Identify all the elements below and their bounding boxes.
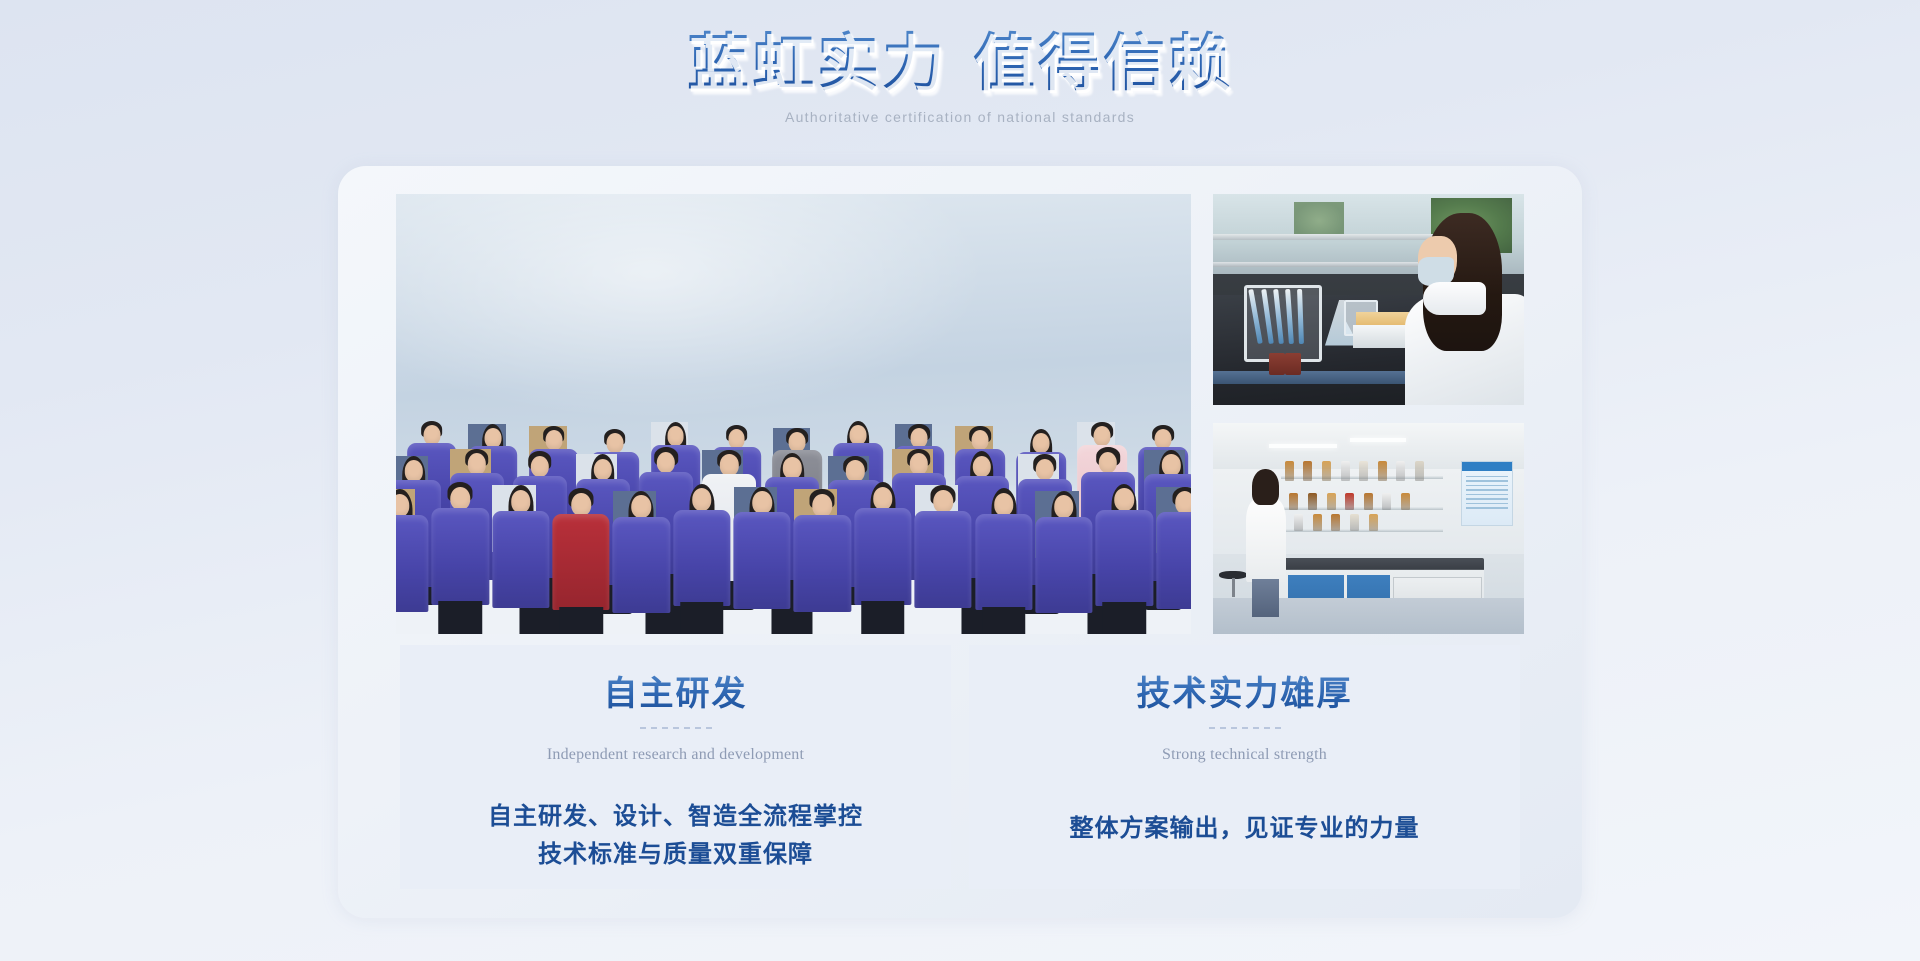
reagent-bottle-icon: [1327, 493, 1336, 510]
team-member-uniform: [552, 514, 609, 610]
feature-card-title: 自主研发: [604, 673, 748, 717]
divider-dash: [1253, 727, 1259, 729]
reagent-bottle-icon: [1313, 514, 1322, 531]
team-member-face: [404, 460, 422, 482]
team-member: [432, 482, 489, 634]
team-member-uniform: [492, 511, 549, 607]
team-member-face: [789, 432, 806, 452]
feature-card-description: 整体方案输出，见证专业的力量: [1070, 810, 1420, 848]
reagent-bottle-icon: [1289, 493, 1298, 510]
team-member-uniform: [432, 508, 489, 604]
team-member-face: [1094, 426, 1111, 446]
feature-card-english-subtitle: Strong technical strength: [1162, 744, 1327, 766]
pipette-icon: [1261, 289, 1274, 344]
feature-card-independent-rd[interactable]: 自主研发 Independent research and developmen…: [400, 645, 951, 889]
team-member-face: [873, 487, 893, 510]
team-member-face: [545, 430, 562, 450]
team-member-face: [972, 430, 989, 450]
team-member: [854, 482, 911, 634]
team-member-face: [994, 493, 1014, 516]
team-member: [734, 487, 791, 634]
reagent-bottle-icon: [1359, 461, 1368, 481]
team-member-uniform: [1035, 517, 1092, 613]
reagent-bottle-icon: [1401, 493, 1410, 510]
feature-card-technical-strength[interactable]: 技术实力雄厚 Strong technical strength 整体方案输出，…: [969, 645, 1520, 889]
feature-card-description-line: 整体方案输出，见证专业的力量: [1070, 810, 1420, 848]
team-member-uniform: [975, 514, 1032, 610]
reagent-bottle-icon: [1341, 461, 1350, 481]
team-member-face: [606, 433, 623, 453]
team-member-face: [1036, 459, 1054, 481]
page-header: 蓝虹实力值得信赖 Authoritative certification of …: [0, 28, 1920, 125]
lab-room-scene: [1213, 423, 1524, 634]
team-member-face: [1175, 491, 1191, 514]
team-member-face: [692, 488, 712, 511]
team-member-face: [657, 452, 675, 474]
stool-post: [1232, 578, 1235, 597]
team-member-uniform: [396, 515, 429, 611]
reagent-bottle-icon: [1294, 514, 1303, 531]
reagent-bottle-icon: [1396, 461, 1405, 481]
photo-gallery: [396, 194, 1524, 634]
lab-lower-shelf: [1213, 262, 1431, 267]
team-member-face: [632, 495, 652, 518]
lab-pipetting-scene: [1213, 194, 1524, 405]
lab-room-photo: [1213, 423, 1524, 634]
team-member-face: [720, 454, 738, 476]
pipette-icon: [1273, 289, 1284, 344]
technician-arm: [1423, 282, 1486, 315]
feature-card-list: 自主研发 Independent research and developmen…: [400, 645, 1520, 889]
team-member: [613, 491, 670, 634]
team-member: [673, 484, 730, 634]
reagent-bottle-icon: [1308, 493, 1317, 510]
team-member: [396, 489, 429, 634]
team-member-face: [752, 491, 772, 514]
lab-stool: [1219, 571, 1247, 605]
divider-dash: [1264, 727, 1270, 729]
team-member-face: [728, 429, 745, 449]
pipette-icon: [1297, 289, 1304, 344]
team-member-face: [531, 456, 549, 478]
poster-text-lines: [1466, 476, 1508, 520]
team-member-face: [846, 460, 864, 482]
team-photo-crowd: [396, 194, 1191, 634]
team-member: [552, 488, 609, 634]
team-member-legs: [559, 607, 603, 634]
reagent-shelf-middle: [1281, 507, 1443, 510]
divider-dash: [640, 727, 646, 729]
team-member-uniform: [794, 515, 851, 611]
lab-bench-edge: [1213, 371, 1406, 384]
team-member-uniform: [673, 510, 730, 606]
team-member-face: [1054, 495, 1074, 518]
divider-dash: [673, 727, 679, 729]
divider-dash: [1209, 727, 1215, 729]
pipette-set-icon: [1253, 289, 1309, 344]
card-dashed-divider: [1209, 727, 1281, 729]
team-member-face: [1033, 433, 1050, 453]
team-member-face: [1155, 429, 1172, 449]
team-member-face: [973, 456, 991, 478]
team-member-uniform: [854, 508, 911, 604]
team-member-legs: [439, 601, 483, 634]
team-member-face: [511, 490, 531, 513]
reagent-bottle-icon: [1322, 461, 1331, 481]
divider-dash: [662, 727, 668, 729]
reagent-bottle-icon: [1378, 461, 1387, 481]
divider-dash: [1242, 727, 1248, 729]
technician-hair-2: [1252, 469, 1279, 504]
team-member-face: [909, 453, 927, 475]
team-member: [1096, 484, 1153, 634]
ceiling-light-1: [1269, 444, 1337, 448]
ceiling-light-2: [1350, 438, 1406, 442]
reagent-bottle-icon: [1345, 493, 1354, 510]
reagent-bottle-icon-2: [1285, 353, 1301, 375]
team-member-face: [850, 425, 867, 445]
team-member-legs: [680, 602, 724, 634]
lab-pipetting-photo: [1213, 194, 1524, 405]
reagent-bottle-icon: [1369, 514, 1378, 531]
card-dashed-divider: [640, 727, 712, 729]
white-lab-coat-2: [1246, 499, 1286, 582]
team-member-legs: [861, 601, 905, 634]
team-member-face: [813, 494, 833, 517]
feature-card-description-line: 自主研发、设计、智造全流程掌控: [488, 798, 863, 836]
team-member-legs: [982, 607, 1026, 634]
reagent-bottle-icon: [1350, 514, 1359, 531]
lab-room-technician-figure: [1244, 469, 1288, 617]
content-panel: 自主研发 Independent research and developmen…: [338, 166, 1582, 918]
feature-card-title: 技术实力雄厚: [1137, 673, 1353, 717]
safety-notice-poster: [1461, 461, 1513, 526]
page-title-part-2: 值得信赖: [973, 30, 1233, 98]
divider-dash: [706, 727, 712, 729]
team-member: [975, 488, 1032, 634]
team-member-face: [1115, 488, 1135, 511]
technician-jeans: [1252, 579, 1279, 617]
page-stage: 蓝虹实力值得信赖 Authoritative certification of …: [0, 0, 1920, 961]
team-member-face: [1162, 454, 1180, 476]
team-member-uniform: [1096, 510, 1153, 606]
feature-card-english-subtitle: Independent research and development: [547, 744, 804, 766]
lab-technician-figure: [1400, 213, 1524, 405]
team-group-photo: [396, 194, 1191, 634]
team-member-face: [594, 459, 612, 481]
team-member-face: [451, 487, 471, 510]
reagent-bottle-icon: [1303, 461, 1312, 481]
team-member-face: [467, 453, 485, 475]
divider-dash: [1275, 727, 1281, 729]
team-member: [1156, 487, 1191, 634]
reagent-bottle-icon: [1331, 514, 1340, 531]
divider-dash: [1220, 727, 1226, 729]
divider-dash: [651, 727, 657, 729]
team-member-uniform: [1156, 512, 1191, 608]
reagent-bottle-icon: [1382, 493, 1391, 510]
divider-dash: [684, 727, 690, 729]
feature-card-description: 自主研发、设计、智造全流程掌控 技术标准与质量双重保障: [488, 798, 863, 874]
team-member-legs: [1103, 602, 1147, 634]
team-member-face: [911, 428, 928, 448]
team-member-face: [423, 425, 440, 445]
team-member-face: [1099, 452, 1117, 474]
page-title: 蓝虹实力值得信赖: [0, 28, 1920, 100]
team-member: [794, 489, 851, 634]
divider-dash: [695, 727, 701, 729]
reagent-shelf-bottom: [1281, 529, 1443, 532]
feature-card-description-line: 技术标准与质量双重保障: [488, 836, 863, 874]
team-member-uniform: [915, 511, 972, 607]
page-subtitle: Authoritative certification of national …: [0, 109, 1920, 125]
page-title-part-1: 蓝虹实力: [687, 30, 947, 98]
team-member-face: [571, 493, 591, 516]
team-member: [492, 485, 549, 634]
team-member: [1035, 491, 1092, 634]
pipette-icon: [1285, 289, 1294, 344]
reagent-bottle-icon: [1364, 493, 1373, 510]
team-member-uniform: [733, 512, 790, 608]
reagent-bottle-icon-1: [1269, 353, 1285, 375]
team-member-face: [933, 490, 953, 513]
team-member-face: [484, 428, 501, 448]
team-member-face: [667, 426, 684, 446]
team-member-uniform: [613, 517, 670, 613]
team-member: [915, 485, 972, 634]
reagent-bottle-icon: [1415, 461, 1424, 481]
divider-dash: [1231, 727, 1237, 729]
team-member-face: [396, 494, 410, 517]
team-member-face: [783, 457, 801, 479]
